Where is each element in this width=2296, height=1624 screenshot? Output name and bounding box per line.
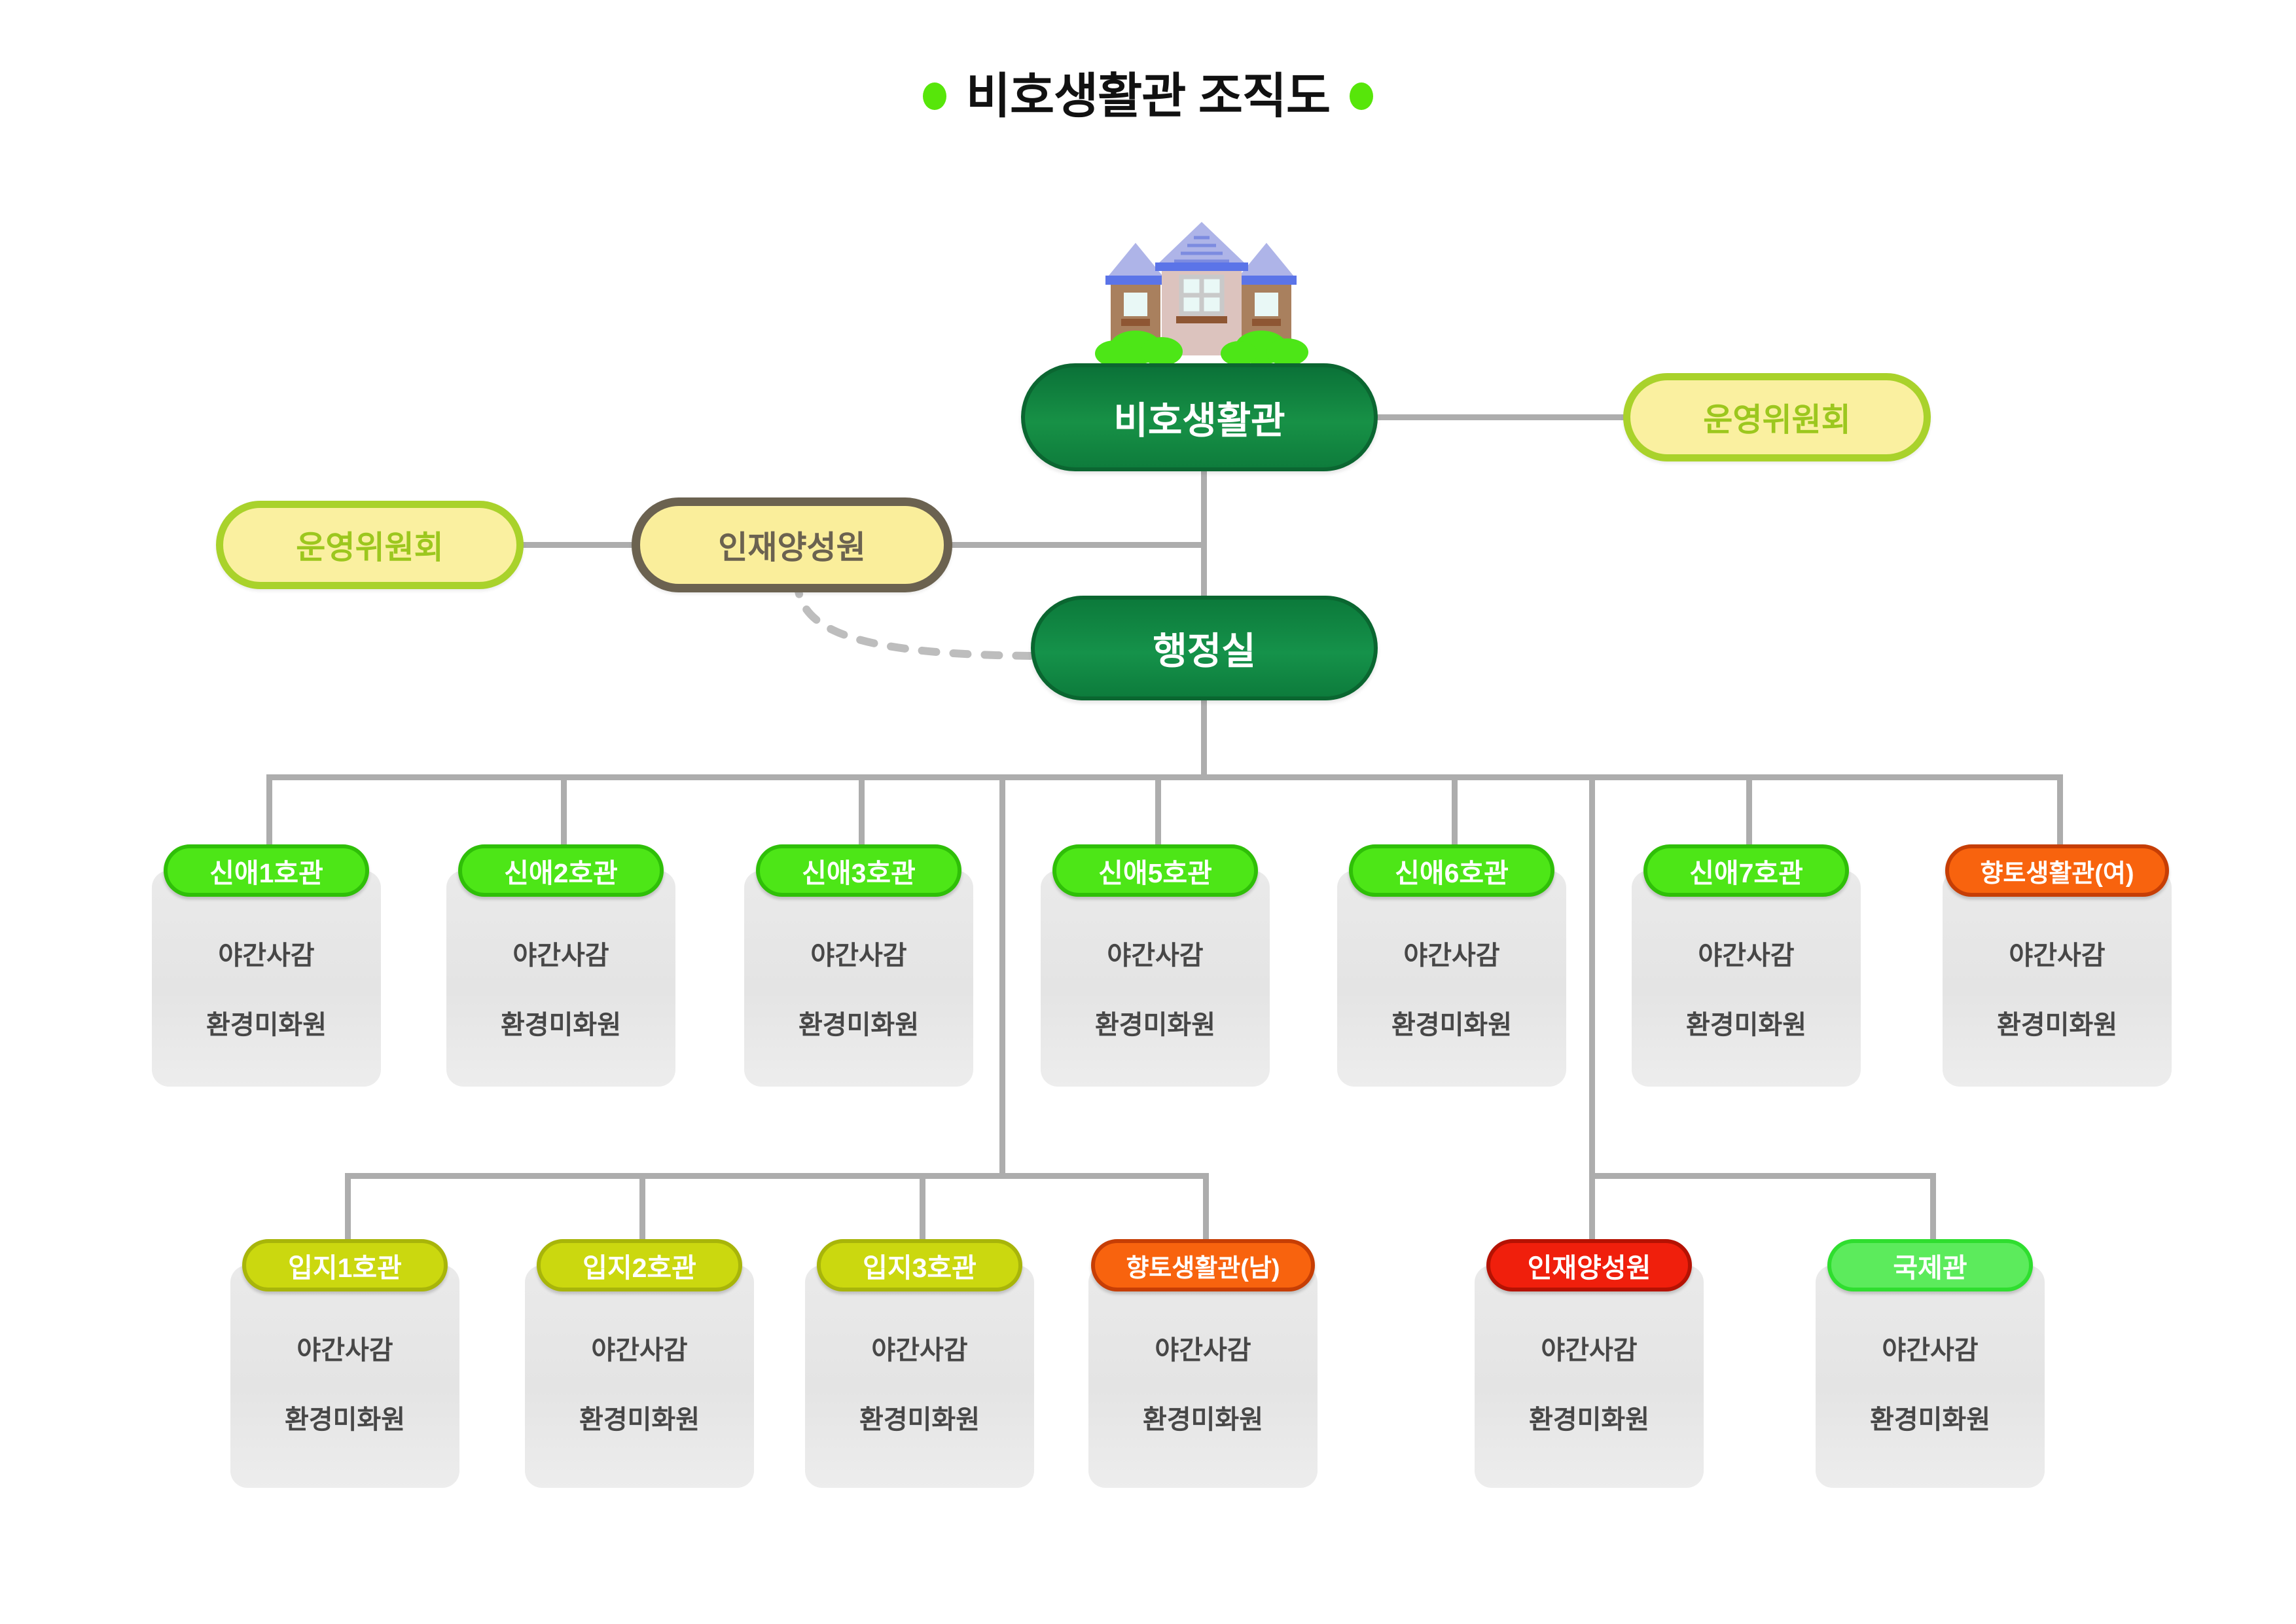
role-janitor: 환경미화원 <box>1632 1012 1861 1038</box>
node-admin-office-label: 행정실 <box>1153 621 1255 675</box>
node-committee-left-label: 운영위원회 <box>296 522 443 568</box>
role-night-supervisor: 야간사감 <box>446 943 675 969</box>
card-header-hyangto-female[interactable]: 향토생활관(여) <box>1945 844 2169 897</box>
card-header-hyangto-male[interactable]: 향토생활관(남) <box>1091 1239 1315 1291</box>
role-night-supervisor: 야간사감 <box>152 943 381 969</box>
node-admin-office[interactable]: 행정실 <box>1031 596 1378 700</box>
role-night-supervisor: 야간사감 <box>805 1337 1034 1363</box>
role-janitor: 환경미화원 <box>805 1407 1034 1433</box>
card-header-ipji-1[interactable]: 입지1호관 <box>242 1239 448 1291</box>
role-janitor: 환경미화원 <box>152 1012 381 1038</box>
node-talent-center[interactable]: 인재양성원 <box>632 497 952 592</box>
card-header-sinae-3[interactable]: 신애3호관 <box>756 844 961 897</box>
role-janitor: 환경미화원 <box>744 1012 973 1038</box>
role-janitor: 환경미화원 <box>230 1407 459 1433</box>
card-header-sinae-1[interactable]: 신애1호관 <box>164 844 369 897</box>
card-header-sinae-7[interactable]: 신애7호관 <box>1643 844 1849 897</box>
role-janitor: 환경미화원 <box>525 1407 754 1433</box>
card-header-sinae-6[interactable]: 신애6호관 <box>1349 844 1554 897</box>
card-header-sinae-5[interactable]: 신애5호관 <box>1052 844 1258 897</box>
green-dot-icon <box>923 82 946 110</box>
role-night-supervisor: 야간사감 <box>1943 943 2172 969</box>
connector-talent-to-spine <box>942 542 1204 548</box>
card-header-international[interactable]: 국제관 <box>1827 1239 2033 1291</box>
connector-root-to-admin <box>1201 468 1207 599</box>
node-talent-center-label: 인재양성원 <box>718 522 865 568</box>
role-night-supervisor: 야간사감 <box>1475 1337 1704 1363</box>
role-night-supervisor: 야간사감 <box>230 1337 459 1363</box>
org-chart-canvas: 비호생활관 조직도 <box>0 0 2296 1624</box>
node-root-label: 비호생활관 <box>1113 391 1285 444</box>
role-janitor: 환경미화원 <box>1475 1407 1704 1433</box>
role-janitor: 환경미화원 <box>1041 1012 1270 1038</box>
page-title-text: 비호생활관 조직도 <box>966 72 1330 120</box>
connector-root-to-right-committee <box>1368 414 1630 420</box>
role-janitor: 환경미화원 <box>1088 1407 1318 1433</box>
node-committee-left[interactable]: 운영위원회 <box>216 501 524 589</box>
role-night-supervisor: 야간사감 <box>1041 943 1270 969</box>
connector-spine-lower-left <box>999 774 1005 1179</box>
role-janitor: 환경미화원 <box>1337 1012 1566 1038</box>
node-committee-right[interactable]: 운영위원회 <box>1623 373 1931 461</box>
role-janitor: 환경미화원 <box>1816 1407 2045 1433</box>
green-dot-icon <box>1350 82 1373 110</box>
connector-spine-lower-right <box>1589 774 1595 1179</box>
role-night-supervisor: 야간사감 <box>1088 1337 1318 1363</box>
role-night-supervisor: 야간사감 <box>1337 943 1566 969</box>
page-title: 비호생활관 조직도 <box>0 72 2296 120</box>
connector-admin-to-bus <box>1201 697 1207 777</box>
card-header-talent-center-dorm[interactable]: 인재양성원 <box>1486 1239 1692 1291</box>
card-header-sinae-2[interactable]: 신애2호관 <box>458 844 664 897</box>
role-night-supervisor: 야간사감 <box>1816 1337 2045 1363</box>
dormitory-building-icon <box>1083 219 1319 383</box>
role-night-supervisor: 야간사감 <box>1632 943 1861 969</box>
role-night-supervisor: 야간사감 <box>744 943 973 969</box>
card-header-ipji-3[interactable]: 입지3호관 <box>817 1239 1022 1291</box>
connector-bus-bottom-left <box>345 1173 1209 1179</box>
node-root-biho[interactable]: 비호생활관 <box>1021 363 1378 471</box>
role-janitor: 환경미화원 <box>446 1012 675 1038</box>
card-header-ipji-2[interactable]: 입지2호관 <box>537 1239 742 1291</box>
connector-bus-top <box>266 774 2063 780</box>
node-committee-right-label: 운영위원회 <box>1703 394 1850 441</box>
connector-bus-bottom-right <box>1589 1173 1936 1179</box>
role-janitor: 환경미화원 <box>1943 1012 2172 1038</box>
role-night-supervisor: 야간사감 <box>525 1337 754 1363</box>
connector-left-committee-to-talent <box>517 542 641 548</box>
